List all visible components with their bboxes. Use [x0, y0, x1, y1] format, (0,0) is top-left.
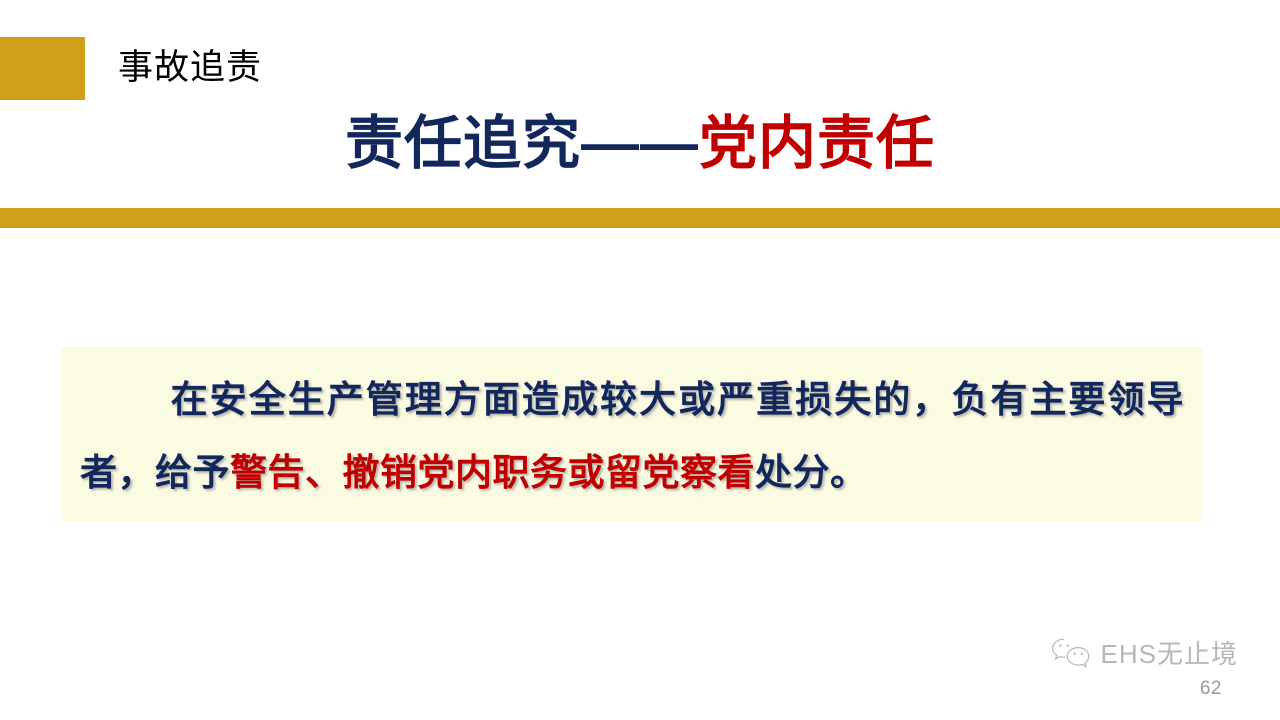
- page-title: 责任追究——党内责任: [0, 108, 1280, 180]
- page-title-red-part: 党内责任: [699, 111, 935, 176]
- slide-canvas: 事故追责 责任追究——党内责任 在安全生产管理方面造成较大或严重损失的，负有主要…: [0, 0, 1280, 720]
- body-paragraph: 在安全生产管理方面造成较大或严重损失的，负有主要领导者，给予警告、撤销党内职务或…: [80, 363, 1184, 509]
- body-segment-tail: 处分。: [755, 452, 868, 493]
- page-title-navy-part: 责任追究——: [345, 111, 699, 176]
- page-number: 62: [1200, 678, 1222, 700]
- header-accent-block: [0, 37, 85, 100]
- body-segment-emphasis: 警告、撤销党内职务或留党察看: [230, 452, 755, 493]
- watermark-text: EHS无止境: [1101, 639, 1238, 669]
- gold-divider-bar: [0, 208, 1280, 228]
- header-kicker-text: 事故追责: [118, 42, 262, 94]
- body-content-panel: 在安全生产管理方面造成较大或严重损失的，负有主要领导者，给予警告、撤销党内职务或…: [62, 347, 1202, 522]
- watermark: EHS无止境: [1049, 636, 1238, 672]
- wechat-icon: [1049, 636, 1093, 672]
